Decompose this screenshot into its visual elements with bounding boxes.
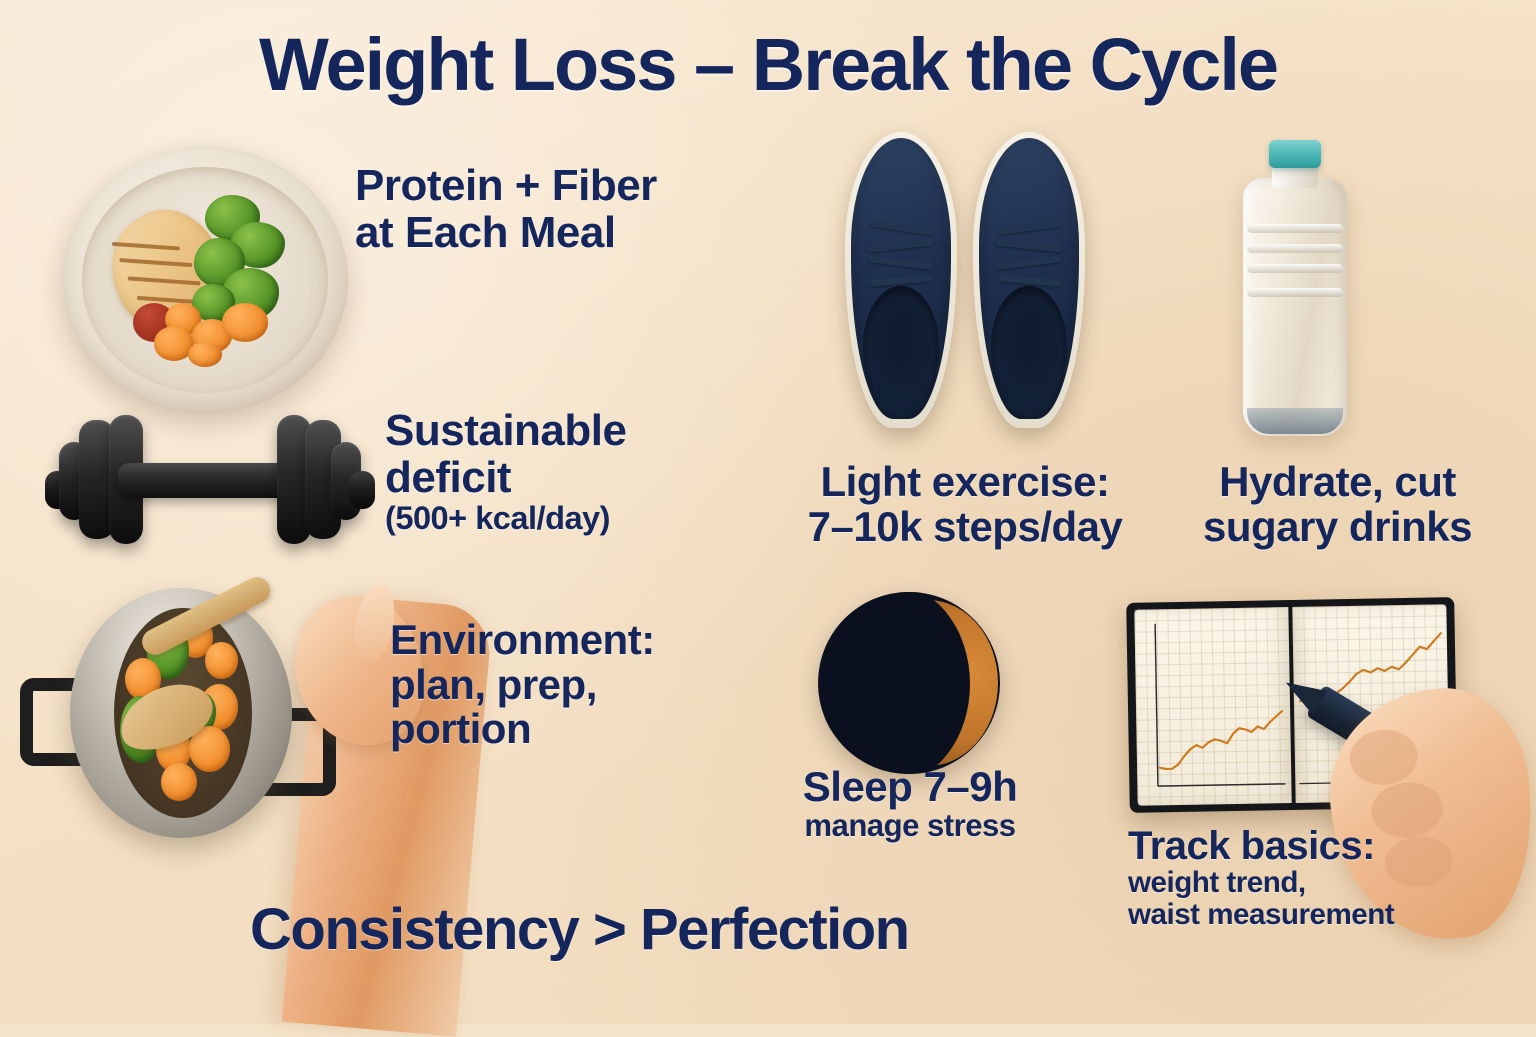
infographic-canvas: Weight Loss – Break the Cycle Pr (0, 0, 1536, 1024)
tip-track-text: Track basics: weight trend, waist measur… (1128, 825, 1394, 930)
tip-hydrate-line1: Hydrate, cut (1165, 460, 1510, 505)
tip-environment-line1: Environment: (390, 618, 655, 663)
tip-environment-text: Environment: plan, prep, portion (390, 618, 655, 752)
dumbbell-image (45, 412, 375, 547)
pot-of-vegetables-image (28, 588, 328, 838)
tip-hydrate-line2: sugary drinks (1165, 505, 1510, 550)
sneaker-left (845, 132, 957, 428)
plate-of-food-image (62, 146, 348, 414)
tip-track-line3: waist measurement (1128, 899, 1394, 930)
footer-slogan: Consistency > Perfection (250, 896, 909, 963)
bottle-cap (1269, 140, 1321, 168)
tip-protein-line2: at Each Meal (355, 210, 657, 257)
bowl-well (99, 184, 311, 377)
tip-environment-line3: portion (390, 707, 655, 752)
crescent-moon-image (818, 592, 1000, 774)
sneakers-image (845, 132, 1085, 432)
page-title: Weight Loss – Break the Cycle (0, 22, 1536, 107)
moon-shadow (820, 592, 970, 774)
tip-track-line2: weight trend, (1128, 867, 1394, 898)
tip-deficit-text: Sustainable deficit (500+ kcal/day) (385, 408, 626, 536)
bottle-base (1247, 408, 1343, 434)
dumbbell-bar (118, 463, 303, 498)
tip-sleep-line1: Sleep 7–9h (750, 765, 1070, 810)
tip-exercise-text: Light exercise: 7–10k steps/day (775, 460, 1155, 549)
tip-sleep-text: Sleep 7–9h manage stress (750, 765, 1070, 842)
tip-protein-text: Protein + Fiber at Each Meal (355, 163, 657, 256)
tip-exercise-line1: Light exercise: (775, 460, 1155, 505)
sneaker-right (973, 132, 1085, 428)
tip-deficit-line3: (500+ kcal/day) (385, 501, 626, 536)
tip-sleep-line2: manage stress (750, 810, 1070, 843)
bottle-body (1243, 178, 1347, 436)
weight-trend-chart-left (1134, 607, 1292, 811)
tip-protein-line1: Protein + Fiber (355, 163, 657, 210)
notebook-page-left (1134, 607, 1292, 806)
water-bottle-image (1243, 140, 1347, 436)
tip-deficit-line1: Sustainable (385, 408, 626, 455)
tip-track-line1: Track basics: (1128, 825, 1394, 867)
tip-deficit-line2: deficit (385, 455, 626, 502)
tip-exercise-line2: 7–10k steps/day (775, 505, 1155, 550)
tip-environment-line2: plan, prep, (390, 663, 655, 708)
tip-hydrate-text: Hydrate, cut sugary drinks (1165, 460, 1510, 549)
